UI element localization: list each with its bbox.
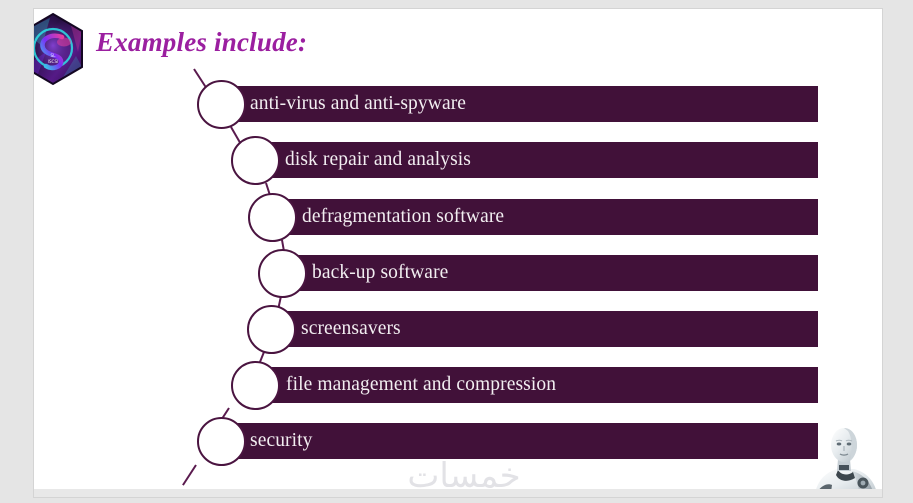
item-node-circle[interactable] bbox=[247, 305, 296, 354]
list-item[interactable]: defragmentation software bbox=[34, 199, 882, 235]
item-node-circle[interactable] bbox=[197, 80, 246, 129]
list-item[interactable]: screensavers bbox=[34, 311, 882, 347]
list-item[interactable]: back-up software bbox=[34, 255, 882, 291]
hexagon-logo-icon: SL ISCSI bbox=[33, 12, 86, 86]
svg-text:SL: SL bbox=[51, 53, 57, 58]
item-bar bbox=[234, 423, 818, 459]
item-label: file management and compression bbox=[286, 374, 556, 396]
watermark-text: خمسات bbox=[364, 459, 564, 493]
android-robot-mascot bbox=[808, 421, 880, 498]
list-item[interactable]: file management and compression bbox=[34, 367, 882, 403]
slide-canvas: SL ISCSI Examples include: anti-virus an… bbox=[33, 8, 883, 498]
item-label: anti-virus and anti-spyware bbox=[250, 93, 466, 115]
item-node-circle[interactable] bbox=[231, 361, 280, 410]
chain-connector-bottom bbox=[182, 464, 197, 485]
slide-frame: SL ISCSI Examples include: anti-virus an… bbox=[0, 0, 913, 503]
brand-logo: SL ISCSI bbox=[33, 12, 86, 86]
slide-bottom-strip bbox=[34, 489, 882, 497]
item-label: disk repair and analysis bbox=[285, 149, 471, 171]
item-label: screensavers bbox=[301, 318, 401, 340]
item-node-circle[interactable] bbox=[258, 249, 307, 298]
svg-text:ISCSI: ISCSI bbox=[48, 59, 59, 64]
item-label: defragmentation software bbox=[302, 206, 504, 228]
item-label: security bbox=[250, 430, 313, 452]
list-item[interactable]: anti-virus and anti-spyware bbox=[34, 86, 882, 122]
item-label: back-up software bbox=[312, 262, 448, 284]
robot-icon bbox=[808, 421, 880, 498]
page-title: Examples include: bbox=[96, 27, 307, 58]
item-node-circle[interactable] bbox=[231, 136, 280, 185]
list-item[interactable]: security bbox=[34, 423, 882, 459]
item-node-circle[interactable] bbox=[197, 417, 246, 466]
list-item[interactable]: disk repair and analysis bbox=[34, 142, 882, 178]
item-node-circle[interactable] bbox=[248, 193, 297, 242]
